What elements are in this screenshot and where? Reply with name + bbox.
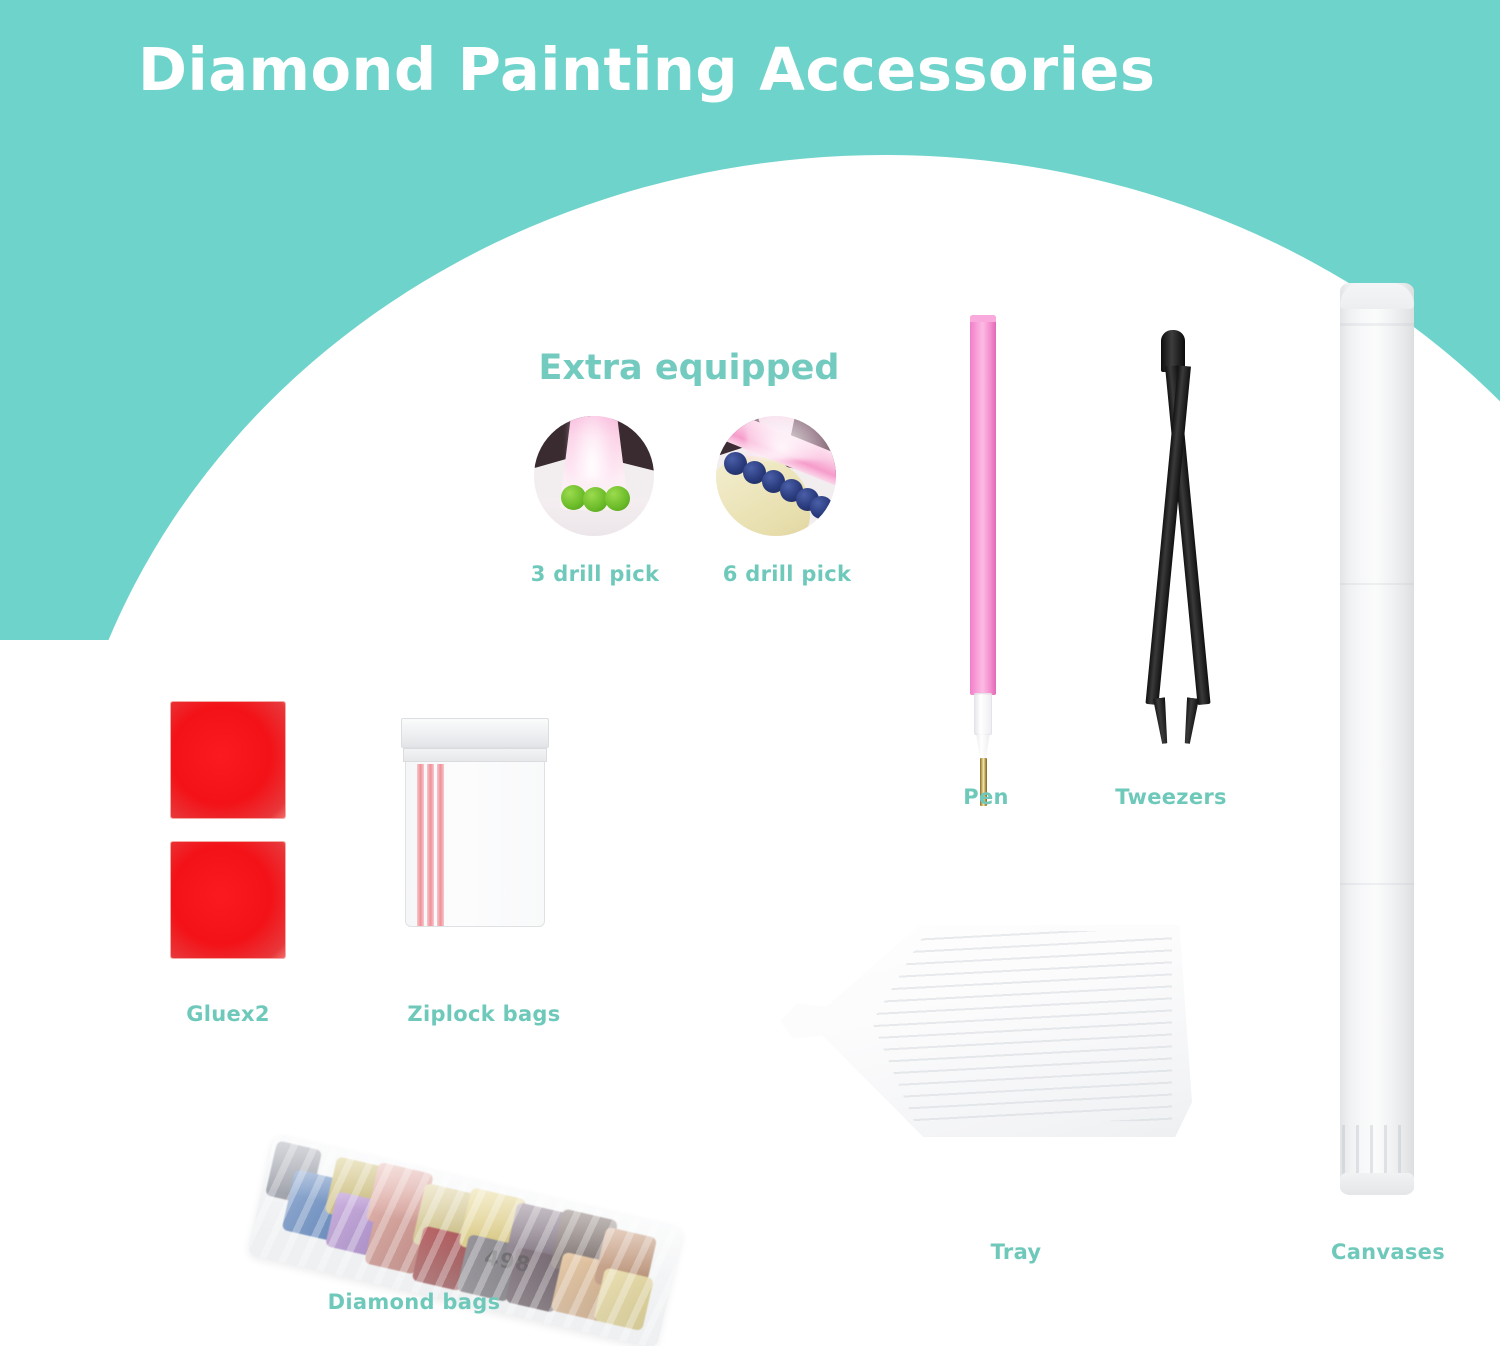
pen-label: Pen xyxy=(963,785,1008,809)
drill-pick-6-photo xyxy=(716,416,836,536)
canvases-label: Canvases xyxy=(1331,1240,1445,1264)
ziplock-bags-illustration xyxy=(395,718,555,930)
extra-equipped-heading: Extra equipped xyxy=(539,348,840,388)
ziplock-bags-label: Ziplock bags xyxy=(407,1002,560,1026)
drill-pick-3-photo xyxy=(534,416,654,536)
canvas-tube-illustration xyxy=(1340,283,1414,1195)
page-title: Diamond Painting Accessories xyxy=(138,38,1156,103)
diamond-bags-illustration: 498 xyxy=(255,1090,695,1320)
pen-illustration xyxy=(962,315,1012,770)
glue-label: Gluex2 xyxy=(186,1002,270,1026)
glue-square-2 xyxy=(170,841,286,959)
diamond-bags-label: Diamond bags xyxy=(328,1290,501,1314)
drill-pick-3-label: 3 drill pick xyxy=(531,562,659,586)
product-infographic: Diamond Painting Accessories Extra equip… xyxy=(0,0,1500,1346)
tweezers-label: Tweezers xyxy=(1115,785,1227,809)
glue-square-1 xyxy=(170,701,286,819)
tray-label: Tray xyxy=(991,1240,1042,1264)
drill-pick-6-label: 6 drill pick xyxy=(723,562,851,586)
tweezers-illustration xyxy=(1125,330,1225,770)
tray-illustration xyxy=(772,905,1192,1195)
